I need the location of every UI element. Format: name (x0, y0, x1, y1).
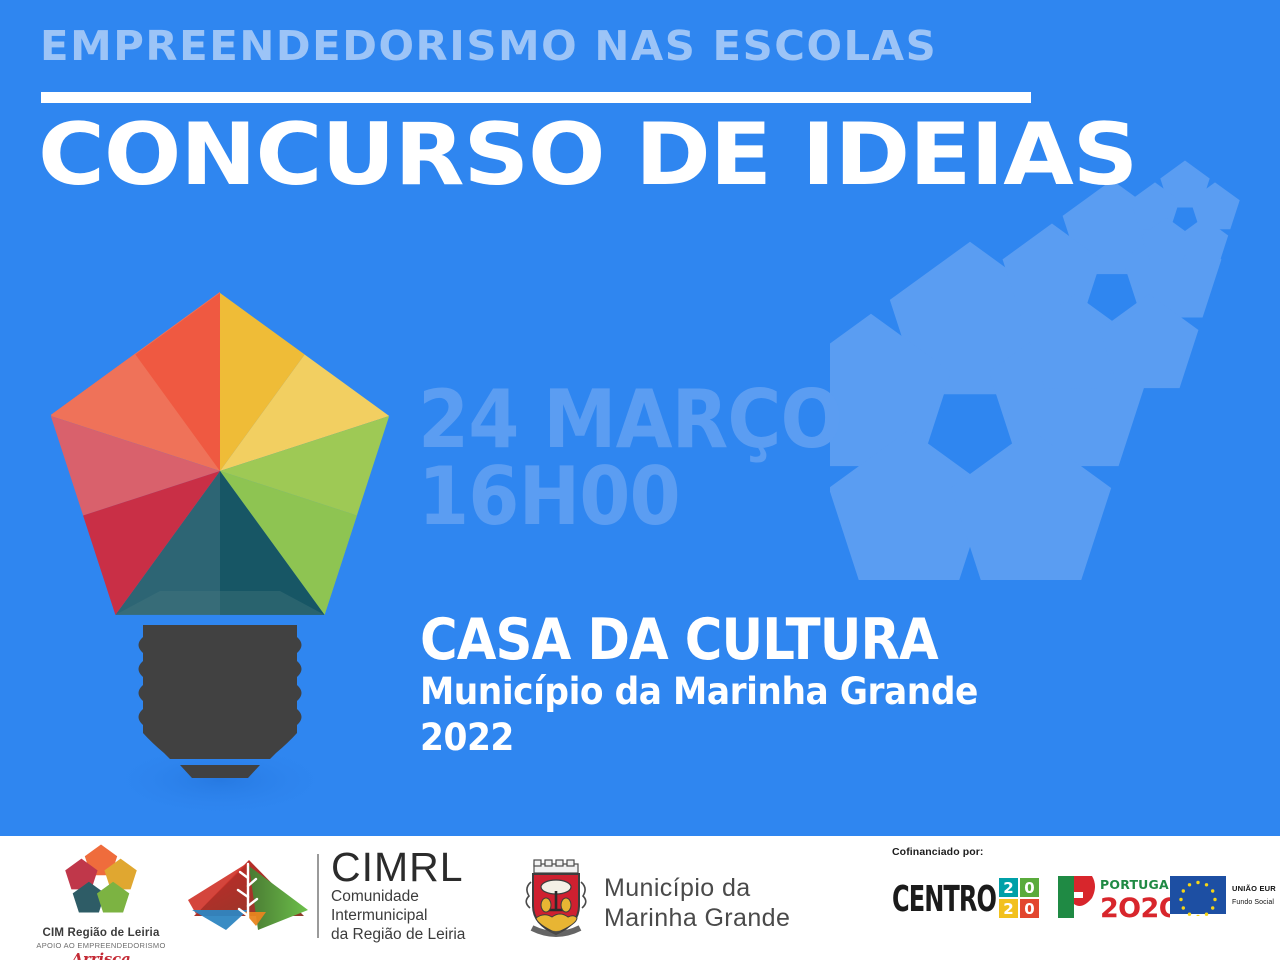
marinha-grande-coat-of-arms-icon (520, 858, 592, 940)
poster-stage: EMPREENDEDORISMO NAS ESCOLAS CONCURSO DE… (0, 0, 1280, 836)
event-venue-line2: Município da Marinha Grande (420, 669, 978, 715)
cimrl-line3: da Região de Leiria (331, 925, 465, 944)
portugal-word: PORTUGAL (1100, 877, 1170, 892)
municipality-line1: Município da (604, 874, 790, 904)
cim-name: CIM Região de Leiria (26, 927, 176, 941)
portugal-2020-icon: PORTUGAL 2O2O (1052, 872, 1170, 922)
svg-text:2: 2 (1003, 900, 1013, 918)
municipality-line2: Marinha Grande (604, 904, 790, 934)
decorative-pentagon-clusters (830, 160, 1280, 580)
funding-block: Cofinanciado por: CENTRO 2 0 2 0 (892, 846, 1272, 951)
logo-cimrl: CIMRL Comunidade Intermunicipal da Regiã… (186, 852, 466, 948)
title-divider-rule (41, 92, 1031, 103)
cimrl-divider (317, 854, 319, 938)
lightbulb-graphic (30, 275, 420, 820)
cim-slogan: Arrisca Connosco! (26, 950, 176, 960)
logo-municipio-marinha-grande: Município da Marinha Grande (520, 858, 810, 942)
poster-root: EMPREENDEDORISMO NAS ESCOLAS CONCURSO DE… (0, 0, 1280, 960)
portugal-year: 2O2O (1100, 893, 1170, 922)
logo-uniao-europeia: UNIÃO EUROPEIA Fundo Social Europeu (1170, 876, 1276, 921)
cimrl-line2: Intermunicipal (331, 906, 465, 925)
cimrl-acronym: CIMRL (331, 848, 465, 887)
logo-centro-2020: CENTRO 2 0 2 0 (892, 874, 1040, 927)
event-date-block: 24 MARÇO 16H00 (418, 382, 879, 536)
svg-text:2: 2 (1003, 879, 1013, 897)
svg-text:0: 0 (1024, 900, 1034, 918)
centro-2020-icon: CENTRO 2 0 2 0 (892, 874, 1040, 922)
poster-kicker: EMPREENDEDORISMO NAS ESCOLAS (40, 26, 937, 67)
logo-cim-regiao-de-leiria: CIM Região de Leiria APOIO AO EMPREENDED… (26, 844, 176, 956)
cimrl-tree-mark-icon (186, 852, 311, 940)
cim-subtitle: APOIO AO EMPREENDEDORISMO (26, 941, 176, 950)
footer-logo-strip: CIM Região de Leiria APOIO AO EMPREENDED… (0, 836, 1280, 960)
eu-line1: UNIÃO EUROPEIA (1232, 884, 1276, 893)
event-year: 2022 (420, 715, 978, 761)
logo-portugal-2020: PORTUGAL 2O2O (1052, 872, 1170, 927)
cim-flower-icon (26, 844, 176, 922)
centro-word: CENTRO (892, 879, 996, 920)
svg-text:0: 0 (1024, 879, 1034, 897)
event-date: 24 MARÇO (418, 382, 842, 459)
event-venue: CASA DA CULTURA (420, 612, 960, 669)
event-venue-block: CASA DA CULTURA Município da Marinha Gra… (420, 612, 1020, 762)
eu-flag-icon: UNIÃO EUROPEIA Fundo Social Europeu (1170, 876, 1276, 916)
poster-title: CONCURSO DE IDEIAS (38, 112, 1137, 198)
eu-line2: Fundo Social Europeu (1232, 899, 1276, 906)
event-time: 16H00 (418, 459, 842, 536)
funding-label: Cofinanciado por: (892, 846, 984, 858)
